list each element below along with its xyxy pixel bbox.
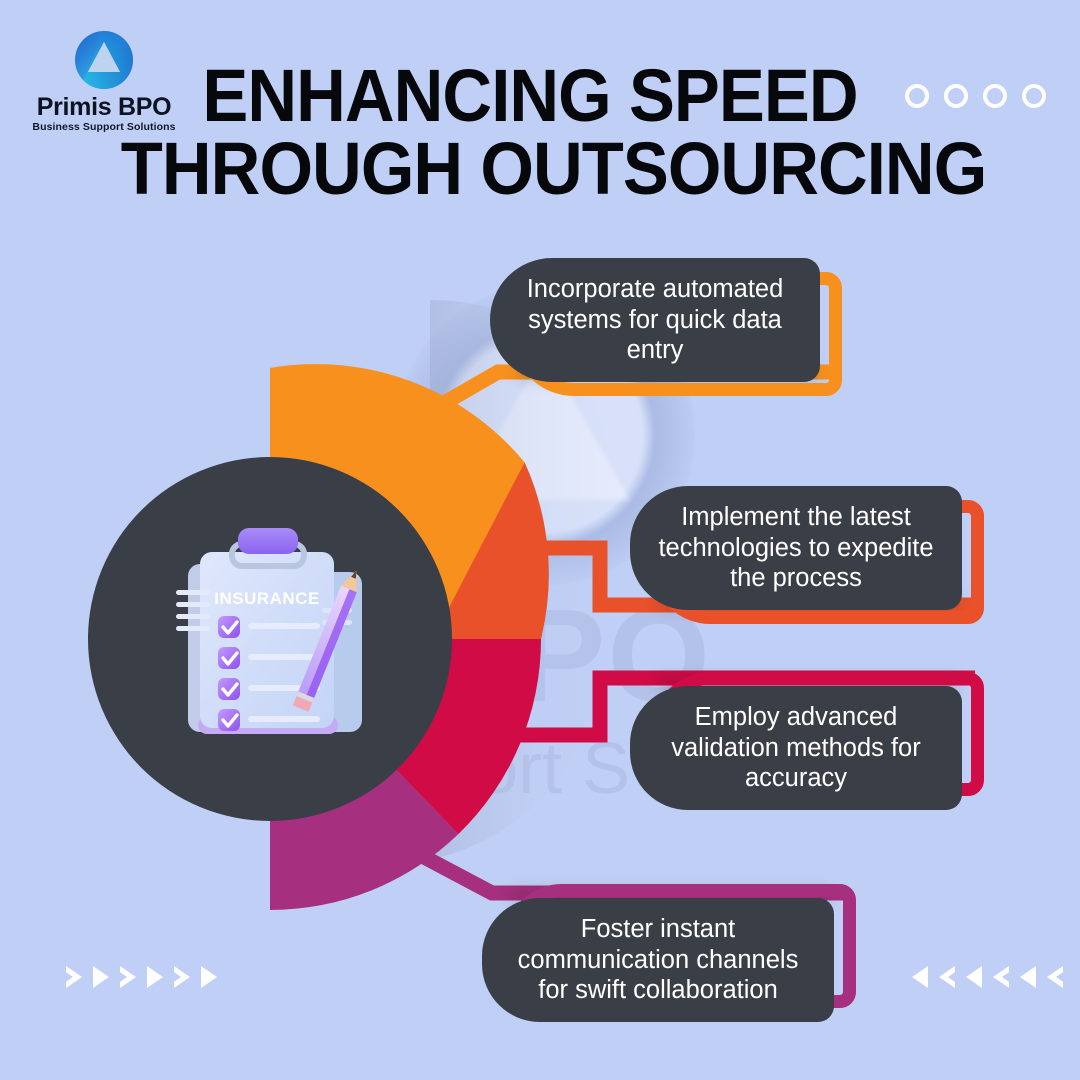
- hollow-circle-icon: [944, 84, 968, 108]
- step-card-1[interactable]: Incorporate automated systems for quick …: [490, 258, 820, 382]
- triangle-right-icon: [66, 966, 82, 988]
- insurance-clipboard-checklist-icon: INSURANCE: [170, 520, 380, 760]
- svg-text:INSURANCE: INSURANCE: [214, 589, 320, 608]
- step-card-4-text: Foster instant communication channels fo…: [508, 914, 808, 1005]
- triangle-left-icon: [1047, 966, 1063, 988]
- triangle-right-icon: [147, 966, 163, 988]
- decorative-triangles-right: [912, 966, 1063, 988]
- step-card-3[interactable]: Employ advanced validation methods for a…: [630, 686, 962, 810]
- triangle-left-icon: [966, 966, 982, 988]
- hollow-circle-icon: [905, 84, 929, 108]
- step-card-4[interactable]: Foster instant communication channels fo…: [482, 898, 834, 1022]
- decorative-triangles-left: [66, 966, 217, 988]
- decorative-dots: [905, 84, 1046, 108]
- step-card-2-text: Implement the latest technologies to exp…: [656, 502, 936, 593]
- triangle-right-icon: [120, 966, 136, 988]
- triangle-right-icon: [174, 966, 190, 988]
- step-card-2[interactable]: Implement the latest technologies to exp…: [630, 486, 962, 610]
- hollow-circle-icon: [983, 84, 1007, 108]
- step-card-3-text: Employ advanced validation methods for a…: [656, 702, 936, 793]
- triangle-left-icon: [1020, 966, 1036, 988]
- title-line-1: ENHANCING SPEED: [121, 60, 939, 133]
- triangle-right-icon: [93, 966, 109, 988]
- triangle-left-icon: [912, 966, 928, 988]
- infographic-canvas: BPO pport S: [0, 0, 1080, 1080]
- page-title: ENHANCING SPEED THROUGH OUTSOURCING: [121, 60, 939, 205]
- title-line-2: THROUGH OUTSOURCING: [121, 133, 939, 206]
- triangle-left-icon: [993, 966, 1009, 988]
- triangle-right-icon: [201, 966, 217, 988]
- hollow-circle-icon: [1022, 84, 1046, 108]
- step-card-1-text: Incorporate automated systems for quick …: [516, 274, 794, 365]
- triangle-left-icon: [939, 966, 955, 988]
